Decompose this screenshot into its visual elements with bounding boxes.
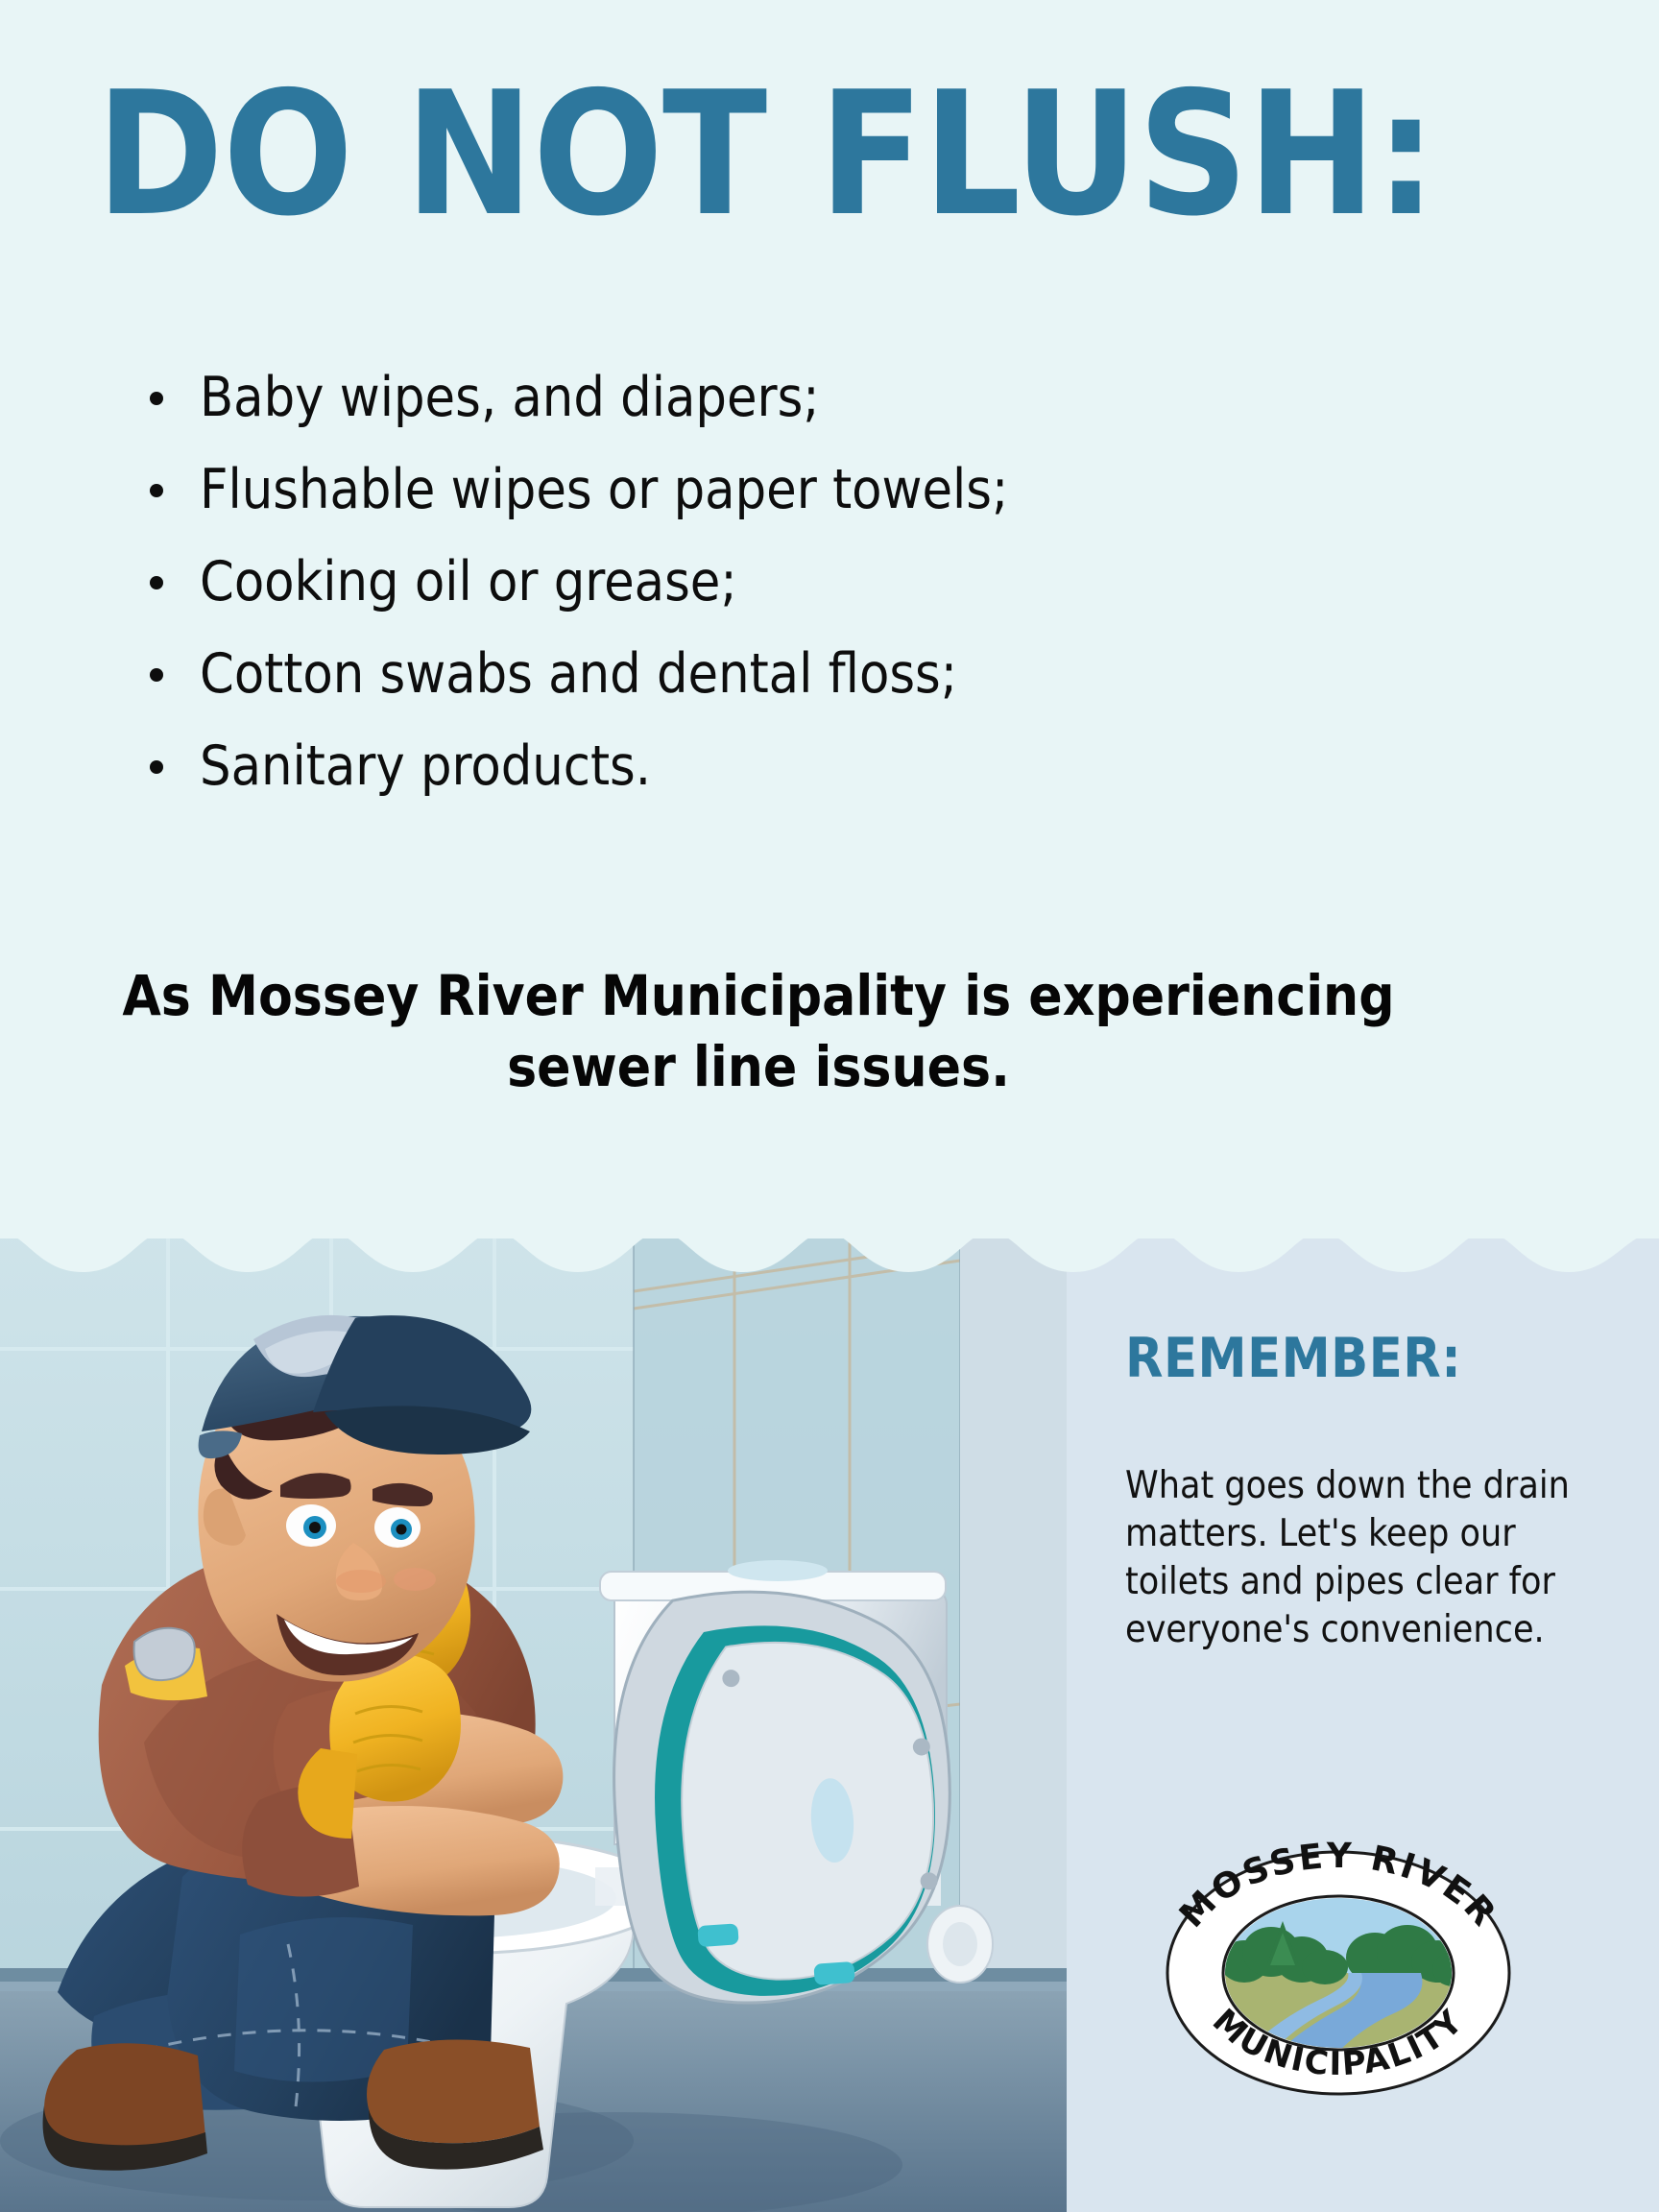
bottom-illustration-section: REMEMBER: What goes down the drain matte… xyxy=(0,1205,1659,2212)
list-item: Flushable wipes or paper towels; xyxy=(144,463,1392,517)
remember-panel: REMEMBER: What goes down the drain matte… xyxy=(1067,1205,1659,2212)
mossey-river-logo-svg: MOSSEY RIVER MUNICIPALITY xyxy=(1137,1829,1540,2117)
bullet-dot-icon xyxy=(150,484,163,497)
bullet-dot-icon xyxy=(150,760,163,774)
list-item: Cooking oil or grease; xyxy=(144,555,1392,610)
statement-text: As Mossey River Municipality is experien… xyxy=(115,960,1402,1102)
list-item-label: Flushable wipes or paper towels; xyxy=(200,458,1008,521)
list-item-label: Cotton swabs and dental floss; xyxy=(200,642,957,706)
page-title: DO NOT FLUSH: xyxy=(96,88,1435,222)
remember-body-text: What goes down the drain matters. Let's … xyxy=(1125,1462,1576,1654)
list-item: Cotton swabs and dental floss; xyxy=(144,647,1392,702)
municipality-logo: MOSSEY RIVER MUNICIPALITY xyxy=(1137,1829,1540,2117)
list-item-label: Sanitary products. xyxy=(200,734,651,798)
bullet-dot-icon xyxy=(150,668,163,682)
do-not-flush-list: Baby wipes, and diapers; Flushable wipes… xyxy=(144,371,1392,831)
bullet-dot-icon xyxy=(150,576,163,589)
list-item: Baby wipes, and diapers; xyxy=(144,371,1392,425)
plumber-illustration xyxy=(0,1205,1067,2212)
list-item-label: Cooking oil or grease; xyxy=(200,550,737,613)
bathroom-scene-svg xyxy=(0,1205,1067,2212)
top-text-section: DO NOT FLUSH: Baby wipes, and diapers; F… xyxy=(0,0,1659,1238)
list-item: Sanitary products. xyxy=(144,739,1392,794)
bullet-dot-icon xyxy=(150,392,163,405)
remember-heading: REMEMBER: xyxy=(1125,1327,1461,1390)
list-item-label: Baby wipes, and diapers; xyxy=(200,366,820,429)
